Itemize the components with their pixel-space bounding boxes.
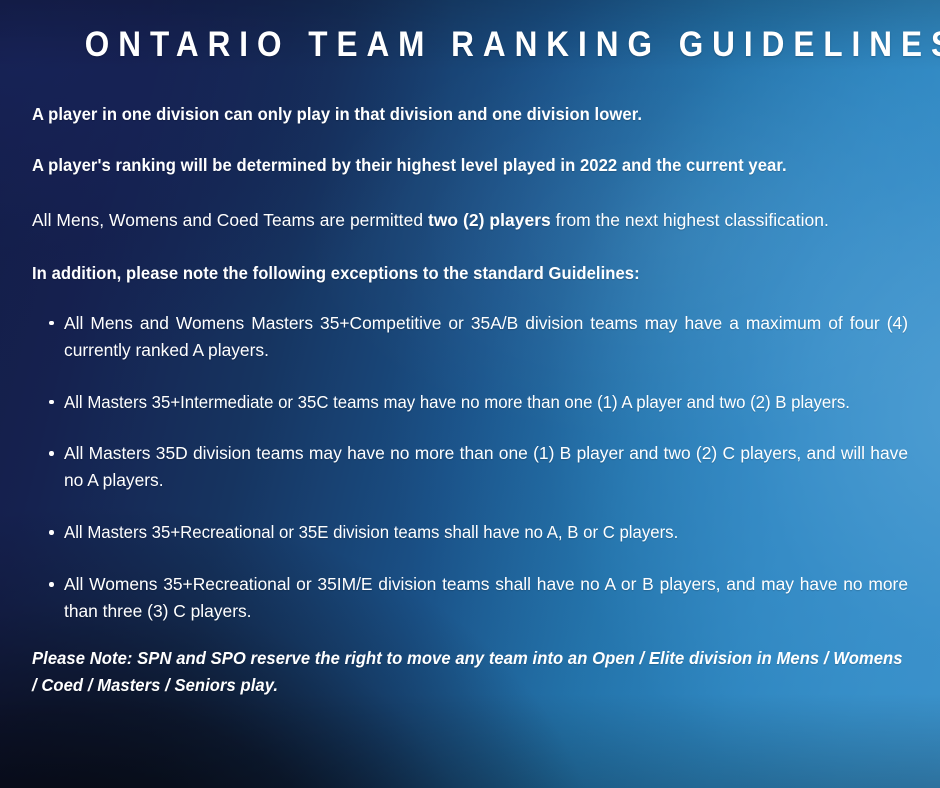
list-item: All Masters 35D division teams may have … — [32, 440, 908, 494]
spacer — [32, 625, 908, 645]
rule-paragraph-division-eligibility: A player in one division can only play i… — [32, 101, 908, 129]
bullet-dot-icon — [49, 451, 54, 456]
bullet-dot-icon — [49, 530, 54, 535]
list-item: All Womens 35+Recreational or 35IM/E div… — [32, 571, 908, 625]
ranking-guidelines-poster: Ontario Team Ranking Guidelines A player… — [0, 0, 940, 788]
list-item: All Masters 35+Intermediate or 35C teams… — [32, 389, 908, 416]
bullet-dot-icon — [49, 582, 54, 587]
list-item-label: All Mens and Womens Masters 35+Competiti… — [64, 313, 908, 360]
bullet-dot-icon — [49, 400, 54, 405]
list-item-label: All Masters 35+Recreational or 35E divis… — [64, 519, 678, 546]
paragraph-text-tail: from the next highest classification. — [551, 210, 829, 230]
emphasis-two-players: two (2) players — [428, 210, 551, 230]
list-item-label: All Masters 35+Intermediate or 35C teams… — [64, 389, 850, 416]
bullet-dot-icon — [49, 321, 54, 326]
list-item-label: All Masters 35D division teams may have … — [64, 443, 908, 490]
spacer — [32, 234, 908, 260]
spacer — [32, 180, 908, 207]
spacer — [32, 128, 908, 152]
rule-paragraph-team-composition: All Mens, Womens and Coed Teams are perm… — [32, 207, 908, 235]
spacer — [32, 288, 908, 310]
list-item: All Mens and Womens Masters 35+Competiti… — [32, 310, 908, 364]
page-title: Ontario Team Ranking Guidelines — [76, 0, 864, 64]
list-item: All Masters 35+Recreational or 35E divis… — [32, 519, 908, 546]
rule-paragraph-ranking-determination: A player's ranking will be determined by… — [32, 152, 908, 180]
list-item-label: All Womens 35+Recreational or 35IM/E div… — [64, 574, 908, 621]
exceptions-list: All Mens and Womens Masters 35+Competiti… — [32, 310, 908, 625]
exceptions-heading: In addition, please note the following e… — [32, 260, 908, 288]
paragraph-text-lead: All Mens, Womens and Coed Teams are perm… — [32, 210, 428, 230]
poster-content: Ontario Team Ranking Guidelines A player… — [0, 0, 940, 700]
footer-note: Please Note: SPN and SPO reserve the rig… — [32, 645, 908, 700]
